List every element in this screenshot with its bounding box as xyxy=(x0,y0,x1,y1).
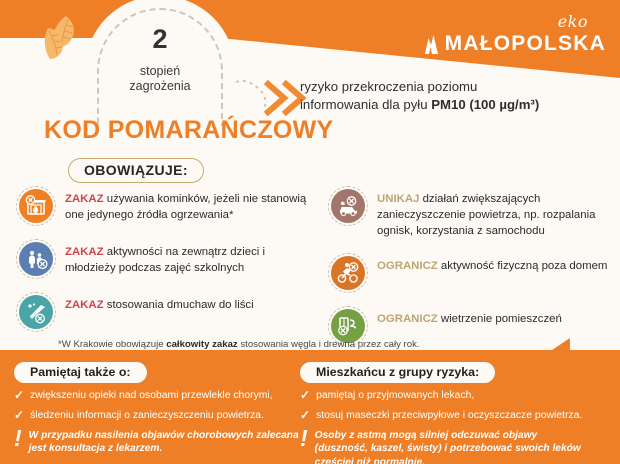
footnote: *W Krakowie obowiązuje całkowity zakaz s… xyxy=(58,339,420,350)
list-item: ✓ śledzeniu informacji o zanieczyszczeni… xyxy=(14,409,304,423)
risk-group-block: Mieszkańcu z grupy ryzyka: ✓ pamiętaj o … xyxy=(300,362,590,464)
risk-description: ryzyko przekroczenia poziomu informowani… xyxy=(300,78,610,114)
remember-also-block: Pamiętaj także o: ✓ zwiększeniu opieki n… xyxy=(14,362,304,456)
list-item-text: zwiększeniu opieki nad osobami przewlekl… xyxy=(30,389,273,403)
recommendation-row: ZAKAZ stosowania dmuchaw do liści xyxy=(16,292,316,332)
page-title: KOD POMARAŃCZOWY xyxy=(44,116,334,145)
risk-line-2-plain: informowania dla pyłu xyxy=(300,97,431,112)
exclamation-mark-icon: ! xyxy=(14,429,22,447)
air-quality-alert-poster: eko MAŁOPOLSKA 2 stopień zagrożenia ryzy… xyxy=(0,0,620,464)
mountain-logo-icon xyxy=(423,35,440,54)
check-mark-icon: ✓ xyxy=(300,389,310,401)
recommendation-row: UNIKAJ działań zwiększających zanieczysz… xyxy=(328,186,620,240)
list-item: ✓ zwiększeniu opieki nad osobami przewle… xyxy=(14,389,304,403)
footnote-suffix: stosowania węgla i drewna przez cały rok… xyxy=(238,339,420,350)
recommendation-keyword: UNIKAJ xyxy=(377,193,419,205)
alert-level-label-line1: stopień xyxy=(97,64,223,78)
window-ventilation-limit-icon xyxy=(331,309,365,343)
malopolska-logo: eko MAŁOPOLSKA xyxy=(423,12,606,56)
logo-name-text: MAŁOPOLSKA xyxy=(445,32,606,56)
recommendation-keyword: ZAKAZ xyxy=(65,193,104,205)
icon-wrapper xyxy=(328,186,368,226)
risk-group-title: Mieszkańcu z grupy ryzyka: xyxy=(300,362,495,383)
icon-wrapper xyxy=(16,239,56,279)
fireplace-ban-icon xyxy=(19,189,53,223)
recommendation-text: OGRANICZ wietrzenie pomieszczeń xyxy=(377,306,562,327)
check-mark-icon: ✓ xyxy=(14,389,24,401)
car-bonfire-avoid-icon xyxy=(331,189,365,223)
warning-note-text: W przypadku nasilenia objawów chorobowyc… xyxy=(29,429,304,456)
recommendation-text: ZAKAZ aktywności na zewnątrz dzieci i mł… xyxy=(65,239,316,276)
bottom-advice-area: Pamiętaj także o: ✓ zwiększeniu opieki n… xyxy=(0,350,620,464)
alert-level-badge: 2 stopień zagrożenia xyxy=(97,26,223,93)
recommendation-body: aktywność fizyczną poza domem xyxy=(438,260,608,272)
risk-line-1: ryzyko przekroczenia poziomu xyxy=(300,78,610,96)
icon-wrapper xyxy=(16,186,56,226)
footnote-bold: całkowity zakaz xyxy=(166,339,237,350)
icon-wrapper xyxy=(328,253,368,293)
recommendation-row: OGRANICZ aktywność fizyczną poza domem xyxy=(328,253,620,293)
orange-notch-decoration xyxy=(552,338,570,350)
list-item: ✓ pamiętaj o przyjmowanych lekach, xyxy=(300,389,590,403)
leaf-blower-ban-icon xyxy=(19,295,53,329)
recommendations-area: ZAKAZ używania kominków, jeżeli nie stan… xyxy=(0,186,620,336)
list-item-text: pamiętaj o przyjmowanych lekach, xyxy=(316,389,474,403)
cyclist-limit-icon xyxy=(331,256,365,290)
recommendation-keyword: ZAKAZ xyxy=(65,246,104,258)
recommendation-row: ZAKAZ używania kominków, jeżeli nie stan… xyxy=(16,186,316,226)
warning-note: ! Osoby z astmą mogą silniej odczuwać ob… xyxy=(300,429,590,464)
recommendations-column-right: UNIKAJ działań zwiększających zanieczysz… xyxy=(328,186,620,359)
remember-also-title: Pamiętaj także o: xyxy=(14,362,147,383)
logo-eko-text: eko xyxy=(423,12,606,31)
leaf-decoration-icon xyxy=(36,14,90,66)
footnote-prefix: *W Krakowie obowiązuje xyxy=(58,339,166,350)
warning-note: ! W przypadku nasilenia objawów chorobow… xyxy=(14,429,304,456)
recommendation-row: ZAKAZ aktywności na zewnątrz dzieci i mł… xyxy=(16,239,316,279)
recommendation-body: wietrzenie pomieszczeń xyxy=(438,313,562,325)
list-item: ✓ stosuj maseczki przeciwpyłowe i oczysz… xyxy=(300,409,590,423)
double-chevron-right-icon xyxy=(234,76,310,120)
risk-line-2: informowania dla pyłu PM10 (100 µg/m³) xyxy=(300,96,610,114)
list-item-text: stosuj maseczki przeciwpyłowe i oczyszcz… xyxy=(316,409,582,423)
exclamation-mark-icon: ! xyxy=(300,429,308,447)
recommendations-column-left: ZAKAZ używania kominków, jeżeli nie stan… xyxy=(16,186,316,345)
check-mark-icon: ✓ xyxy=(14,409,24,421)
icon-wrapper xyxy=(16,292,56,332)
recommendation-keyword: OGRANICZ xyxy=(377,313,438,325)
recommendation-keyword: OGRANICZ xyxy=(377,260,438,272)
check-mark-icon: ✓ xyxy=(300,409,310,421)
children-outdoor-ban-icon xyxy=(19,242,53,276)
recommendation-text: OGRANICZ aktywność fizyczną poza domem xyxy=(377,253,607,274)
alert-level-label-line2: zagrożenia xyxy=(97,79,223,93)
risk-line-2-bold: PM10 (100 µg/m³) xyxy=(431,97,539,112)
recommendation-text: UNIKAJ działań zwiększających zanieczysz… xyxy=(377,186,620,240)
recommendation-keyword: ZAKAZ xyxy=(65,299,104,311)
recommendation-text: ZAKAZ używania kominków, jeżeli nie stan… xyxy=(65,186,316,223)
alert-level-number: 2 xyxy=(97,26,223,53)
logo-wordmark: MAŁOPOLSKA xyxy=(423,32,606,56)
obligations-badge: OBOWIĄZUJE: xyxy=(68,158,204,183)
recommendation-body: stosowania dmuchaw do liści xyxy=(104,299,254,311)
warning-note-text: Osoby z astmą mogą silniej odczuwać obja… xyxy=(315,429,590,464)
recommendation-text: ZAKAZ stosowania dmuchaw do liści xyxy=(65,292,254,313)
list-item-text: śledzeniu informacji o zanieczyszczeniu … xyxy=(30,409,264,423)
